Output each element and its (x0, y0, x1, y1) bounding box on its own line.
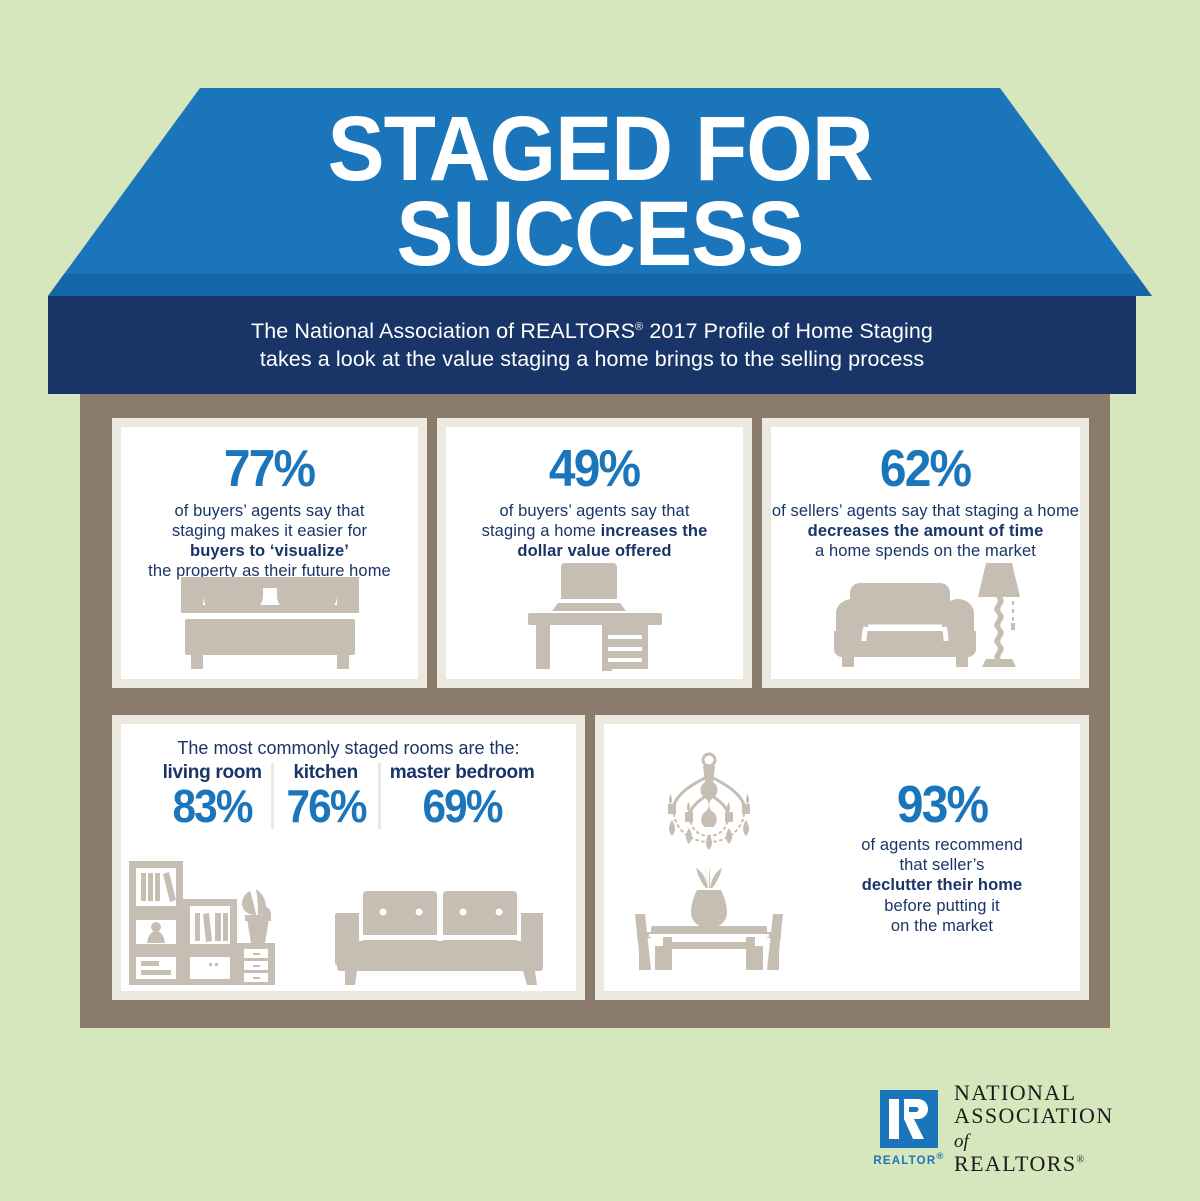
room-percent: 69% (422, 783, 501, 829)
declutter-line-3: declutter their home (862, 876, 1023, 894)
roof-polygon-svg (48, 88, 1152, 296)
room-item-living-room: living room 83% (154, 763, 271, 829)
declutter-line-2: that seller’s (899, 856, 984, 874)
stat-card-time-on-market: 62% of sellers’ agents say that staging … (762, 418, 1089, 688)
bookshelf-icon-svg (127, 859, 277, 987)
realtor-caption: REALTOR® (873, 1151, 944, 1167)
subtitle-band: The National Association of REALTORS® 20… (48, 296, 1136, 394)
realtor-mark: REALTOR® (876, 1090, 942, 1167)
stat-blurb: of buyers’ agents say thatstaging a home… (460, 501, 730, 561)
nar-line-1: NATIONAL (954, 1081, 1114, 1104)
vase-plant (691, 866, 727, 928)
stat-blurb: of agents recommend that seller’s declut… (827, 835, 1057, 936)
stat-percent: 77% (224, 443, 314, 495)
infographic-canvas: STAGED FOR SUCCESS The National Associat… (0, 0, 1200, 1201)
room-item-master-bedroom: master bedroom 69% (378, 763, 544, 829)
declutter-icons (604, 744, 814, 972)
stat-blurb: of sellers’ agents say that staging a ho… (770, 501, 1082, 561)
subtitle-line-2: takes a look at the value staging a home… (260, 345, 924, 373)
room-percent: 76% (286, 783, 365, 829)
nar-line-3-text: REALTORS (954, 1151, 1076, 1176)
realtor-r-icon (880, 1090, 938, 1148)
desk-laptop-icon (446, 561, 743, 671)
nar-line-3: REALTORS® (954, 1152, 1114, 1175)
nar-wordmark: NATIONAL ASSOCIATION of REALTORS® (954, 1081, 1114, 1175)
dining-table-icon (629, 864, 789, 972)
dining-table-icon-svg (629, 864, 789, 972)
realtor-caption-sup: ® (936, 1151, 944, 1162)
staged-rooms-card: The most commonly staged rooms are the: … (112, 715, 585, 1000)
realtor-caption-text: REALTOR (873, 1154, 936, 1166)
nar-line-2: ASSOCIATION of (954, 1104, 1114, 1151)
sofa-icon-svg (335, 875, 545, 987)
realtor-r-glyph-svg (880, 1090, 938, 1148)
declutter-line-5: on the market (891, 917, 993, 935)
stat-percent: 93% (897, 779, 987, 831)
room-percent: 83% (173, 783, 252, 829)
stat-blurb: of buyers’ agents say thatstaging makes … (135, 501, 405, 582)
stat-percent: 49% (549, 443, 639, 495)
subtitle-line-1-b: 2017 Profile of Home Staging (643, 319, 933, 343)
staged-rooms-title: The most commonly staged rooms are the: (177, 738, 519, 759)
declutter-line-1: of agents recommend (861, 836, 1023, 854)
nar-line-2-text: ASSOCIATION (954, 1103, 1114, 1128)
declutter-card: 93% of agents recommend that seller’s de… (595, 715, 1089, 1000)
nar-logo: REALTOR® NATIONAL ASSOCIATION of REALTOR… (876, 1086, 1106, 1170)
chandelier-icon (646, 750, 772, 858)
nar-line-3-sup: ® (1076, 1154, 1085, 1165)
armchair-lamp-icon-svg (826, 561, 1026, 671)
bed-icon (121, 575, 418, 671)
bookshelf-icon (127, 859, 277, 987)
subtitle-line-1: The National Association of REALTORS® 20… (251, 317, 933, 345)
desk-laptop-icon-svg (520, 561, 670, 671)
sofa-icon (335, 875, 545, 987)
stat-card-dollar-value: 49% of buyers’ agents say thatstaging a … (437, 418, 752, 688)
room-item-kitchen: kitchen 76% (271, 763, 378, 829)
potted-plant-icon (242, 889, 271, 943)
subtitle-line-1-a: The National Association of REALTORS (251, 319, 635, 343)
bed-icon-svg (175, 575, 365, 671)
stat-card-visualize: 77% of buyers’ agents say thatstaging ma… (112, 418, 427, 688)
stat-percent: 62% (880, 443, 970, 495)
chandelier-icon-svg (646, 750, 772, 858)
armchair-lamp-icon (771, 561, 1080, 671)
declutter-line-4: before putting it (884, 897, 999, 915)
roof-shape: STAGED FOR SUCCESS (48, 88, 1152, 296)
nar-line-2-of: of (954, 1131, 969, 1152)
staged-rooms-list: living room 83% kitchen 76% master bedro… (121, 763, 576, 829)
